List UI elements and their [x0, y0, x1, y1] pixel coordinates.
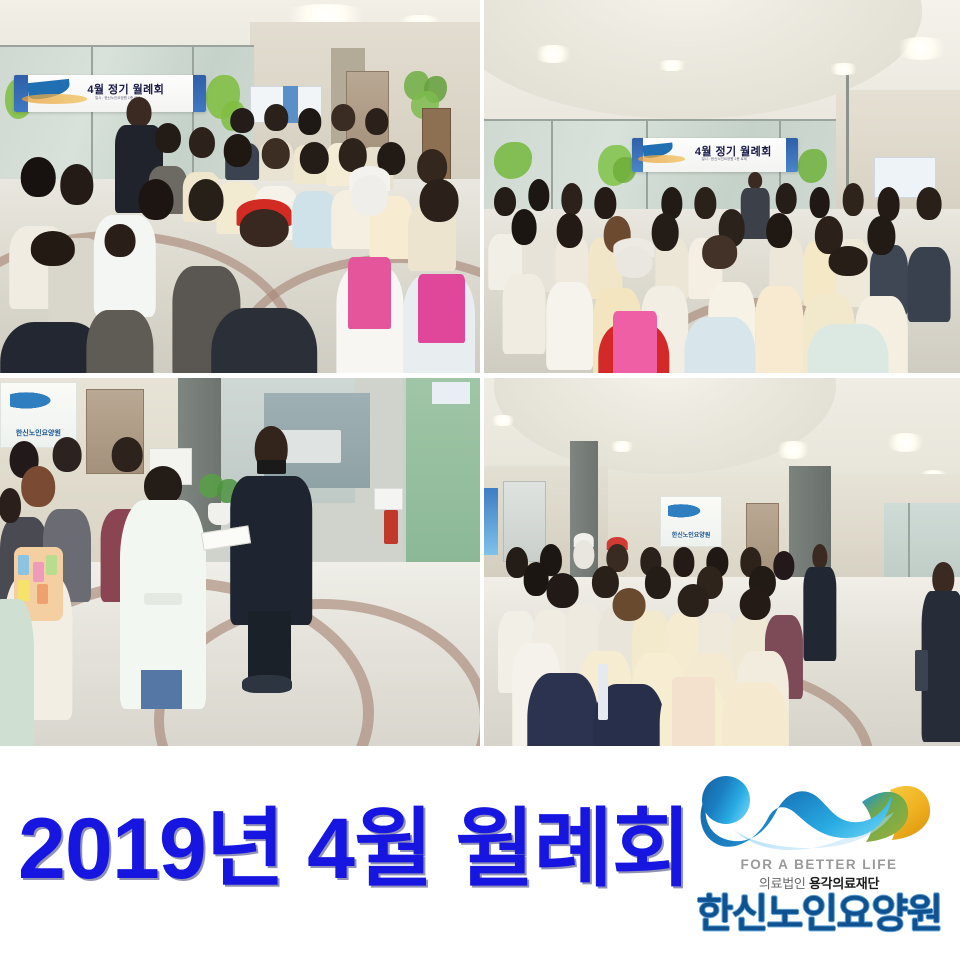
banner-title-text: 4월 정기 월례회: [87, 81, 164, 97]
photo-bottom-right: 한신노인요양원: [484, 378, 960, 746]
event-banner-top-right: 4월 정기 월례회 일시 : 한신노인요양원 1층 로비: [632, 138, 799, 172]
staff-navy-tracksuit: [593, 588, 664, 746]
poster-title: 2019년 4월 월례회: [18, 806, 678, 892]
logo-organization-name: 한신노인요양원: [688, 893, 950, 935]
foundation-prefix: 의료법인: [759, 876, 806, 891]
photo-top-left: 4월 정기 월례회 일시 : 한신노인요양원 1층 로비: [0, 0, 480, 373]
staff-navy-sweater: [527, 573, 598, 746]
logo-tagline: FOR A BETTER LIFE: [688, 857, 950, 872]
photo-bottom-left: 한신노인요양원: [0, 378, 480, 746]
photo-collage: 4월 정기 월례회 일시 : 한신노인요양원 1층 로비: [0, 0, 960, 746]
event-banner-top-left: 4월 정기 월례회 일시 : 한신노인요양원 1층 로비: [14, 75, 206, 112]
foundation-name: 용각의료재단: [809, 876, 879, 891]
logo-swoosh-icon: [694, 768, 944, 856]
poster-root: 4월 정기 월례회 일시 : 한신노인요양원 1층 로비: [0, 0, 960, 960]
photo-top-right: 4월 정기 월례회 일시 : 한신노인요양원 1층 로비: [484, 0, 960, 373]
banner-subtitle-text: 일시 : 한신노인요양원 1층 로비: [702, 157, 747, 162]
staff-receiving-award: [120, 466, 206, 709]
standing-banner-bottom-right: 한신노인요양원: [660, 496, 722, 548]
logo-foundation-line: 의료법인 용각의료재단: [688, 873, 950, 892]
staff-with-clipboard: [922, 562, 960, 746]
standing-banner-text: 한신노인요양원: [665, 530, 718, 539]
organization-logo: FOR A BETTER LIFE 의료법인 용각의료재단 한신노인요양원: [688, 768, 950, 944]
director-presenting-award: [230, 426, 312, 691]
